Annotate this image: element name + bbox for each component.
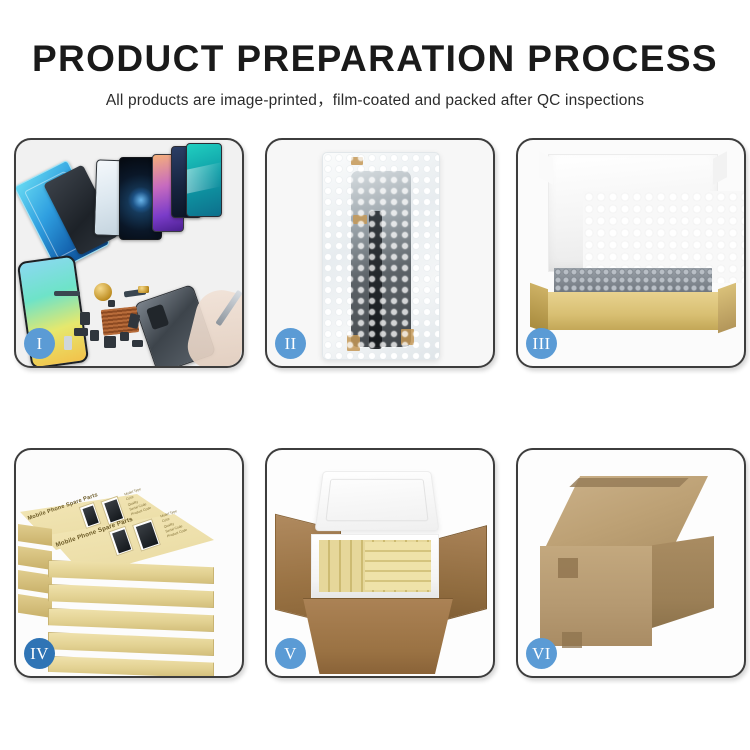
page-header: PRODUCT PREPARATION PROCESS All products… xyxy=(0,0,750,110)
carton-tab-upper xyxy=(558,558,578,578)
small-component-4 xyxy=(104,336,116,348)
carton-front-face xyxy=(540,546,652,646)
step-badge-6: VI xyxy=(526,638,557,669)
page-title: PRODUCT PREPARATION PROCESS xyxy=(0,38,750,79)
small-component-1 xyxy=(80,312,90,325)
phone-screen-teal xyxy=(186,143,222,217)
process-step-card-1[interactable]: I xyxy=(14,138,244,368)
stack-side-l3 xyxy=(18,570,52,594)
stack-face-5 xyxy=(48,656,214,676)
process-step-card-2[interactable]: II xyxy=(265,138,495,368)
step-badge-5: V xyxy=(275,638,306,669)
page-subtitle: All products are image-printed，film-coat… xyxy=(0,88,750,110)
foam-box-lid xyxy=(315,471,440,531)
small-component-8 xyxy=(108,300,115,307)
step-badge-1: I xyxy=(24,328,55,359)
small-component-7 xyxy=(64,336,72,350)
stack-face-4 xyxy=(48,632,214,656)
kraft-boxes-horizontal xyxy=(365,542,431,590)
stack-face-2 xyxy=(48,584,214,608)
bubble-texture-overlay xyxy=(323,153,439,359)
step-badge-4: IV xyxy=(24,638,55,669)
small-component-5 xyxy=(120,332,129,341)
bubble-wrap-bag xyxy=(322,152,440,360)
carton-front-panel xyxy=(303,598,453,674)
step-badge-3: III xyxy=(526,328,557,359)
process-step-card-6[interactable]: VI xyxy=(516,448,746,678)
small-component-2 xyxy=(74,328,88,336)
stack-side-l2 xyxy=(18,546,52,570)
grey-bubble-padding xyxy=(554,268,712,294)
speaker-coil-component xyxy=(94,283,112,301)
white-box-lid xyxy=(548,154,718,272)
carton-tab-lower xyxy=(562,632,582,648)
stack-side-l4 xyxy=(18,594,52,618)
step-badge-2: II xyxy=(275,328,306,359)
small-component-3 xyxy=(90,330,99,341)
stack-face-1 xyxy=(48,560,214,584)
gold-contact-1 xyxy=(138,286,149,293)
kraft-box-tray xyxy=(544,292,722,330)
stack-face-3 xyxy=(48,608,214,632)
process-step-card-3[interactable]: III xyxy=(516,138,746,368)
process-step-grid: I II III xyxy=(14,138,736,678)
carton-tape-seam xyxy=(569,478,688,487)
small-component-9 xyxy=(132,340,143,347)
carton-top-panel xyxy=(544,476,708,550)
process-step-card-5[interactable]: V xyxy=(265,448,495,678)
flex-cable-1 xyxy=(54,291,80,296)
process-step-card-4[interactable]: Mobile Phone Spare Parts Model TypeColor… xyxy=(14,448,244,678)
carton-side-face xyxy=(652,536,714,628)
